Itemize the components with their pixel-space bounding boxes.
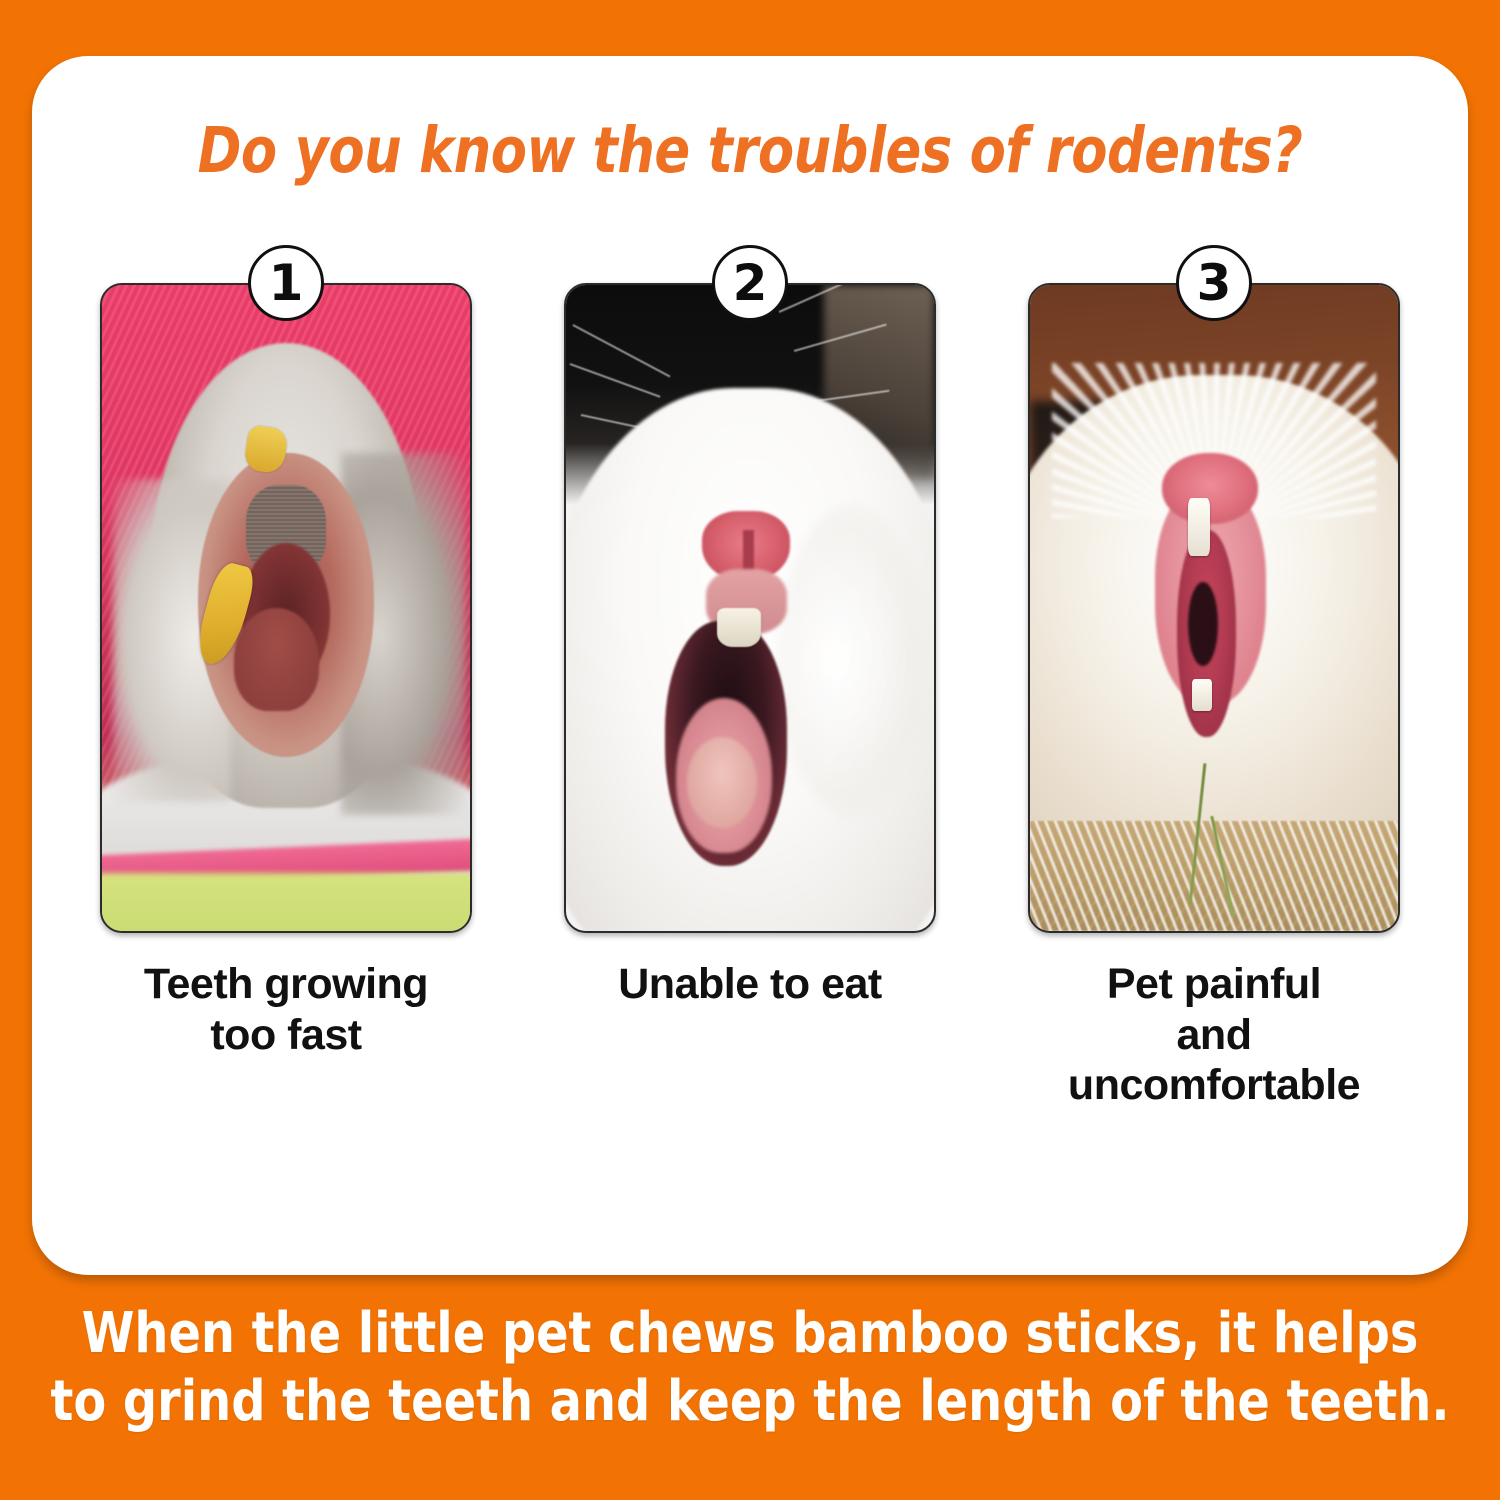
mouth-cavity [1188,582,1217,666]
caption-line: Teeth growing [100,959,472,1010]
trouble-panel-1: 1 Teeth growing too fast [100,283,472,1111]
nose [1162,453,1258,524]
page-title: Do you know the troubles of rodents? [82,114,1417,187]
photo-wrapper-3: 3 [1028,283,1400,933]
photo-teeth-growing-too-fast [100,283,472,933]
photo-unable-to-eat [564,283,936,933]
cheek-highlight [779,505,926,815]
panel-caption-1: Teeth growing too fast [100,959,472,1060]
tongue [234,608,319,711]
footer-message: When the little pet chews bamboo sticks,… [38,1300,1463,1437]
caption-line: uncomfortable [1028,1060,1400,1111]
step-badge-2: 2 [712,245,788,321]
tongue [687,737,757,827]
lower-incisor [1192,679,1212,711]
trouble-panel-2: 2 Unable to eat [564,283,936,1111]
trouble-panels: 1 Teeth growing too fast [100,283,1400,1111]
caption-line: Unable to eat [564,959,936,1010]
photo-wrapper-1: 1 [100,283,472,933]
step-badge-1: 1 [248,245,324,321]
step-badge-3: 3 [1176,245,1252,321]
footer-line-1: When the little pet chews bamboo sticks,… [38,1300,1463,1368]
panel-caption-3: Pet painful and uncomfortable [1028,959,1400,1111]
panel-caption-2: Unable to eat [564,959,936,1010]
caption-line: too fast [100,1010,472,1061]
footer-line-2: to grind the teeth and keep the length o… [38,1368,1463,1436]
content-card: Do you know the troubles of rodents? [32,56,1468,1275]
photo-wrapper-2: 2 [564,283,936,933]
upper-incisor [1188,498,1210,556]
caption-line: and [1028,1010,1400,1061]
green-mat [100,873,472,933]
photo-pet-painful-and-uncomfortable [1028,283,1400,933]
incisor-teeth [717,608,761,647]
caption-line: Pet painful [1028,959,1400,1010]
trouble-panel-3: 3 Pet painful and uncomfortable [1028,283,1400,1111]
